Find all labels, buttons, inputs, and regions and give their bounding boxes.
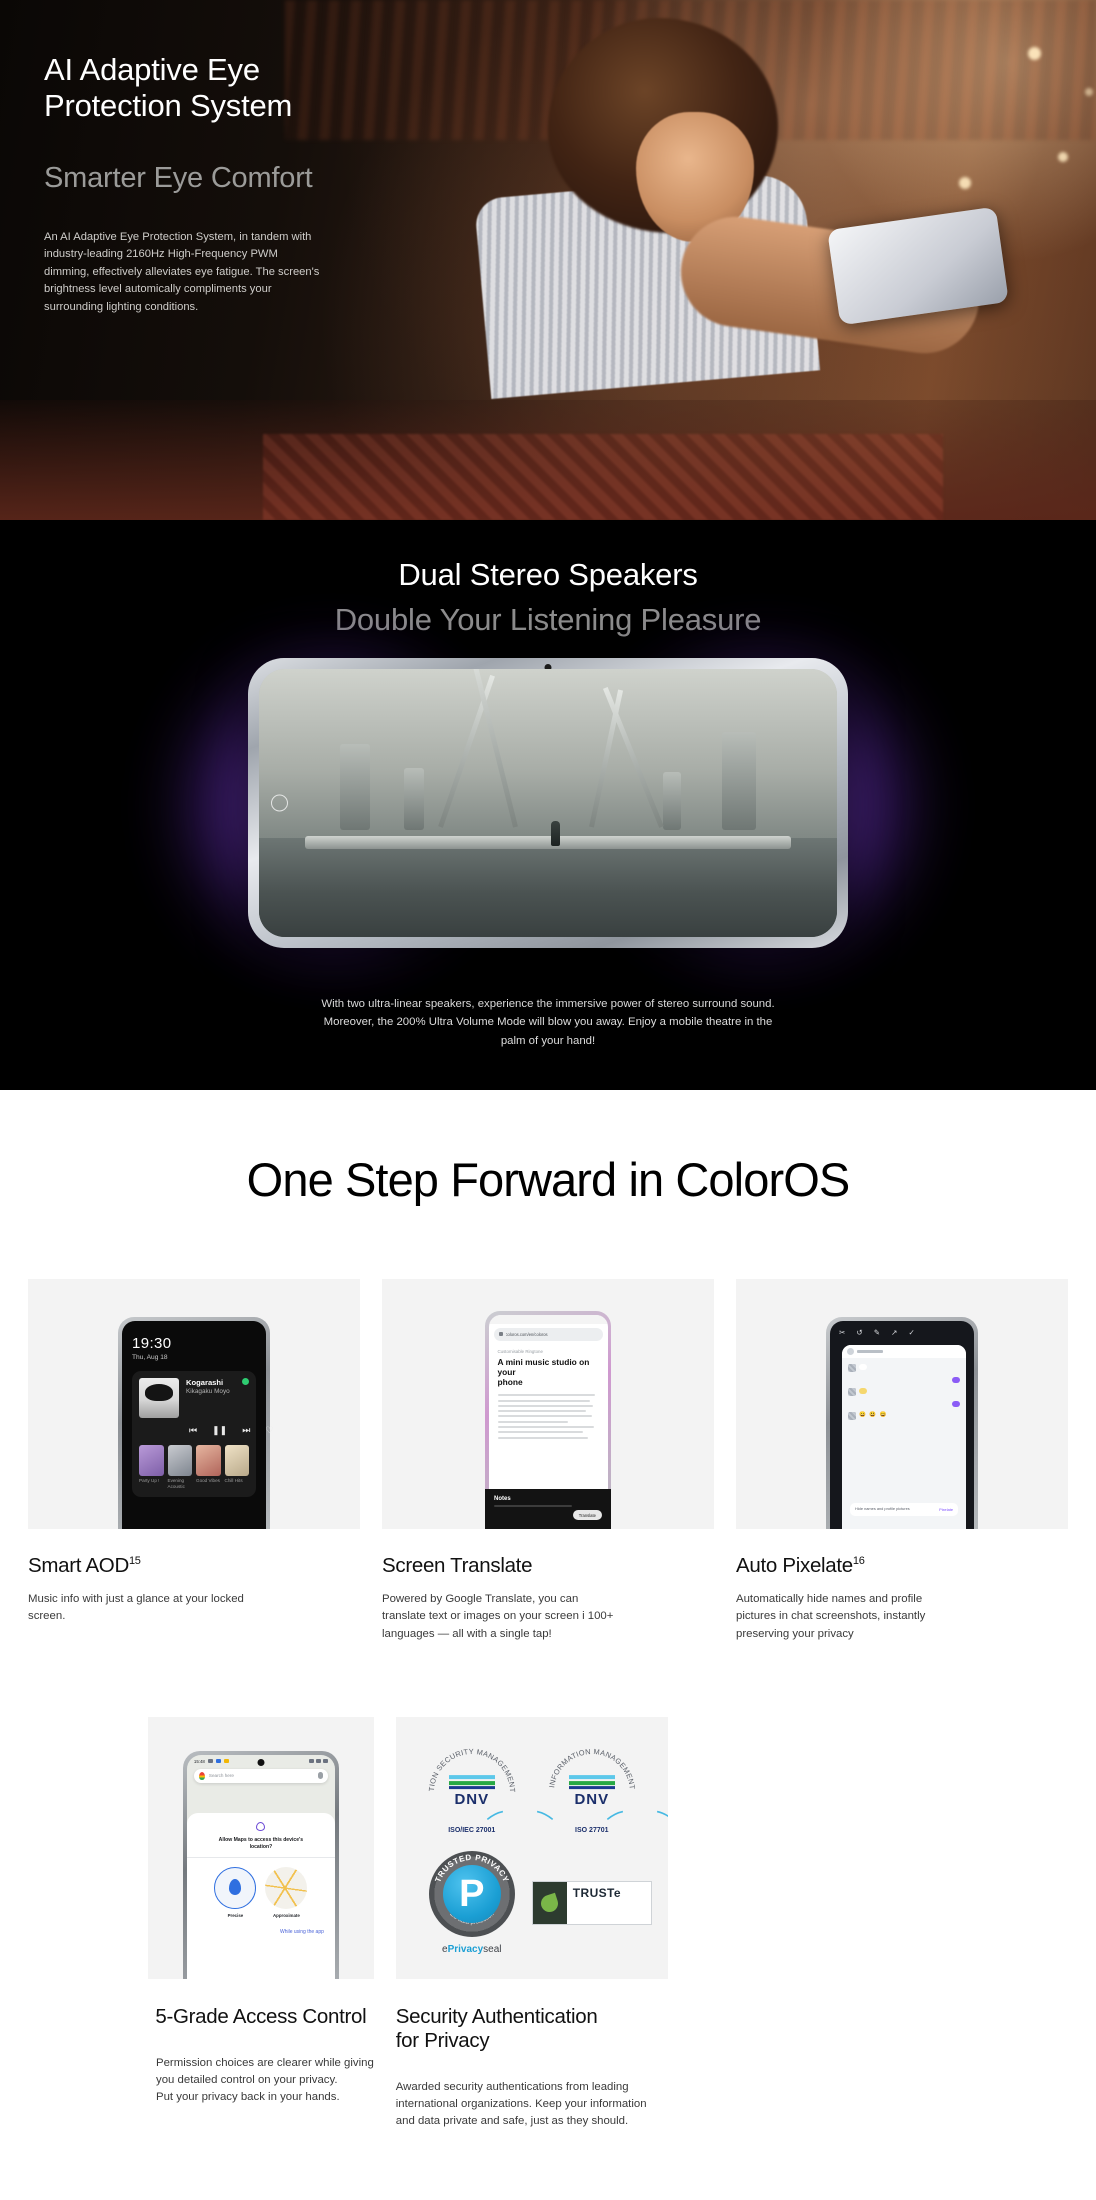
dnv-swoosh-icon: [592, 1810, 668, 1824]
battery-icon: [323, 1759, 328, 1763]
chat-header: [842, 1345, 966, 1358]
while-using-app-button[interactable]: While using the app: [196, 1929, 326, 1935]
feature-title: Screen Translate: [382, 1554, 714, 1578]
game-tower: [404, 768, 424, 830]
phone-mockup: coloros.com/en/coloros Customisable Ring…: [485, 1311, 611, 1529]
page-headline: A mini music studio on your phone: [498, 1357, 599, 1388]
chat-row: [848, 1377, 960, 1383]
hero-subtitle: Smarter Eye Comfort: [44, 162, 584, 195]
ai-eye-protection-section: AI Adaptive Eye Protection System Smarte…: [0, 0, 1096, 520]
chat-row: 😀 😃 😄: [848, 1412, 960, 1420]
dnv-wordmark: DNV: [565, 1791, 619, 1808]
aod-screen: 19:30 Thu, Aug 18 Kogarashi Kikagaku Moy…: [122, 1321, 266, 1529]
eprivacy-wordmark: ePrivacyseal: [429, 1944, 515, 1955]
aod-music-widget[interactable]: Kogarashi Kikagaku Moyo ⏮ ❚❚ ⏭ ♡: [132, 1371, 256, 1497]
feature-title: 5-Grade Access Control: [148, 2005, 374, 2029]
phone-mockup: 19:30 Thu, Aug 18 Kogarashi Kikagaku Moy…: [118, 1317, 270, 1529]
smart-aod-screenshot: 19:30 Thu, Aug 18 Kogarashi Kikagaku Moy…: [28, 1279, 360, 1529]
track-artist: Kikagaku Moyo: [186, 1388, 235, 1395]
feature-card-screen-translate: coloros.com/en/coloros Customisable Ring…: [382, 1279, 714, 1643]
translate-overlay-panel: Notes Translate: [489, 1489, 608, 1529]
truste-seal-icon: TRUSTe International Privacy Verified Po…: [532, 1881, 652, 1925]
share-icon[interactable]: ↗: [891, 1328, 897, 1337]
status-icon: [216, 1759, 221, 1763]
chat-row: [848, 1388, 960, 1396]
toast-text: Hide names and profile pictures: [855, 1507, 910, 1512]
screen-translate-screenshot: coloros.com/en/coloros Customisable Ring…: [382, 1279, 714, 1529]
chat-messages: 😀 😃 😄: [842, 1358, 966, 1420]
avatar-pixelated-icon: [848, 1388, 856, 1396]
dnv-bars-icon: [569, 1776, 615, 1790]
emoji-row: 😀 😃 😄: [859, 1412, 888, 1418]
landscape-phone-mockup: [248, 658, 848, 948]
aod-now-playing-row: Kogarashi Kikagaku Moyo: [139, 1378, 249, 1418]
feature-description: Music info with just a glance at your lo…: [28, 1591, 360, 1626]
aod-clock: 19:30: [132, 1335, 256, 1352]
chat-preview: 😀 😃 😄 Hide names and profile pictures Pi…: [842, 1345, 966, 1529]
leaf-icon: [539, 1893, 560, 1914]
speakers-subtitle: Double Your Listening Pleasure: [0, 602, 1096, 638]
feature-card-smart-aod: 19:30 Thu, Aug 18 Kogarashi Kikagaku Moy…: [28, 1279, 360, 1643]
badge-dnv-iso27001: INFORMATION SECURITY MANAGEMENT SYSTEM D…: [424, 1744, 520, 1840]
bokeh-light: [1058, 152, 1068, 162]
chat-row: [848, 1401, 960, 1407]
dual-stereo-speakers-section: Dual Stereo Speakers Double Your Listeni…: [0, 520, 1096, 1090]
phone-mockup: ✂ ↺ ✎ ↗ ✓: [826, 1317, 978, 1529]
game-tower: [340, 744, 370, 830]
playlist-thumbnail: [196, 1445, 221, 1476]
album-art: [139, 1378, 179, 1418]
url-text: coloros.com/en/coloros: [506, 1332, 548, 1337]
playlist-tile[interactable]: Party Up !: [139, 1445, 164, 1489]
playback-controls: ⏮ ❚❚ ⏭ ♡: [139, 1425, 249, 1436]
feature-title-text: Auto Pixelate: [736, 1554, 853, 1577]
eprivacy-p-mark: P: [443, 1865, 501, 1923]
badge-eprivacyseal: TRUSTED PRIVACY EU data protection P ePr…: [429, 1851, 515, 1955]
bokeh-light: [1028, 47, 1041, 60]
now-playing-indicator-icon: [242, 1378, 249, 1385]
playlist-label: Evening Acoustic: [168, 1478, 193, 1489]
auto-pixelate-screenshot: ✂ ↺ ✎ ↗ ✓: [736, 1279, 1068, 1529]
screenshot-toolbar: ✂ ↺ ✎ ↗ ✓: [830, 1321, 974, 1337]
truste-text-panel: TRUSTe International Privacy Verified Po…: [567, 1882, 651, 1924]
coloros-heading: One Step Forward in ColorOS: [0, 1152, 1096, 1207]
translate-button[interactable]: Translate: [573, 1510, 602, 1520]
feature-title: Auto Pixelate16: [736, 1554, 1068, 1578]
certification-badge-grid: INFORMATION SECURITY MANAGEMENT SYSTEM D…: [396, 1717, 668, 1979]
game-character: [551, 821, 560, 846]
overlay-line: [494, 1505, 572, 1507]
dnv-logo: DNV: [445, 1776, 499, 1809]
truste-leaf-panel: [533, 1882, 567, 1924]
maps-search-bar[interactable]: Search here: [194, 1769, 328, 1783]
microphone-icon[interactable]: [318, 1772, 323, 1779]
brand-part-b: Privacy: [448, 1944, 484, 1955]
chat-row: [848, 1364, 960, 1372]
signal-icon: [309, 1759, 314, 1763]
permission-dialog: Allow Maps to access this device's locat…: [187, 1813, 335, 1979]
toast-action-button[interactable]: Pixelate: [939, 1507, 953, 1512]
playlist-tile[interactable]: Chill Hits: [225, 1445, 250, 1489]
search-placeholder: Search here: [209, 1773, 234, 1778]
permission-question: Allow Maps to access this device's locat…: [196, 1837, 326, 1850]
playlist-tile[interactable]: Good Vibes: [196, 1445, 221, 1489]
feature-title: Security Authentication for Privacy: [396, 2005, 668, 2053]
page-body-lines: [498, 1394, 599, 1438]
bokeh-light: [959, 177, 971, 189]
feature-description: Permission choices are clearer while giv…: [148, 2055, 374, 2106]
status-bar: [489, 1315, 608, 1324]
playlist-label: Chill Hits: [225, 1478, 250, 1484]
feature-card-auto-pixelate: ✂ ↺ ✎ ↗ ✓: [736, 1279, 1068, 1643]
maps-pin-icon: [199, 1772, 205, 1780]
lock-icon: [499, 1332, 503, 1336]
dnv-standard-label: ISO/IEC 27001: [448, 1827, 495, 1834]
previous-track-icon[interactable]: ⏮: [189, 1425, 197, 1436]
undo-icon[interactable]: ↺: [856, 1328, 862, 1337]
game-water: [259, 838, 837, 937]
playlist-tile[interactable]: Evening Acoustic: [168, 1445, 193, 1489]
playlist-label: Good Vibes: [196, 1478, 221, 1484]
front-camera-icon: [257, 1759, 264, 1766]
feature-card-access-control: 15:48 Search here: [148, 1717, 374, 2130]
track-title: Kogarashi: [186, 1378, 235, 1387]
game-hud-icon: [271, 795, 288, 812]
hero-title: AI Adaptive Eye Protection System: [44, 52, 584, 124]
phone-mockup: 15:48 Search here: [183, 1751, 339, 1979]
crop-icon[interactable]: ✂: [839, 1328, 845, 1337]
game-tower: [663, 772, 681, 830]
feature-grid-two: 15:48 Search here: [0, 1717, 1096, 2130]
maps-permission-screen: 15:48 Search here: [187, 1755, 335, 1979]
pause-icon[interactable]: ❚❚: [212, 1425, 227, 1436]
status-icon: [224, 1759, 229, 1763]
divider: [187, 1857, 335, 1858]
option-approximate[interactable]: Approximate: [265, 1867, 307, 1918]
status-time: 15:48: [194, 1759, 205, 1764]
feature-description: Awarded security authentications from le…: [396, 2079, 668, 2130]
security-badges-panel: INFORMATION SECURITY MANAGEMENT SYSTEM D…: [396, 1717, 668, 1979]
feature-description: Powered by Google Translate, you can tra…: [382, 1591, 714, 1643]
overlay-heading: Notes: [494, 1496, 602, 1502]
badge-dnv-iso27701: PRIVACY INFORMATION MANAGEMENT SYSTEM DN…: [544, 1744, 640, 1840]
feature-description: Automatically hide names and profile pic…: [736, 1591, 1068, 1643]
feature-title: Smart AOD15: [28, 1554, 360, 1578]
hero-body-text: An AI Adaptive Eye Protection System, in…: [44, 229, 429, 316]
badge-truste: TRUSTe International Privacy Verified Po…: [532, 1881, 652, 1925]
feature-grid-three: 19:30 Thu, Aug 18 Kogarashi Kikagaku Moy…: [0, 1279, 1096, 1643]
footnote-marker: 16: [853, 1555, 865, 1567]
pen-icon[interactable]: ✎: [874, 1328, 880, 1337]
next-track-icon[interactable]: ⏭: [242, 1425, 250, 1436]
playlist-thumbnail: [225, 1445, 250, 1476]
avatar-pixelated-icon: [848, 1412, 856, 1420]
status-icon: [208, 1759, 213, 1763]
permission-options: Precise Approximate: [196, 1867, 326, 1918]
wifi-icon: [316, 1759, 321, 1763]
speakers-caption: With two ultra-linear speakers, experien…: [198, 995, 898, 1050]
browser-url-bar[interactable]: coloros.com/en/coloros: [494, 1328, 603, 1341]
rug-decor: [263, 434, 943, 520]
chat-screenshot-screen: ✂ ↺ ✎ ↗ ✓: [830, 1321, 974, 1529]
avatar-pixelated-icon: [848, 1364, 856, 1372]
dnv-wordmark: DNV: [445, 1791, 499, 1808]
track-meta: Kogarashi Kikagaku Moyo: [186, 1378, 235, 1418]
footnote-marker: 15: [129, 1555, 141, 1567]
approximate-location-map-icon: [265, 1867, 307, 1909]
option-label: Precise: [214, 1913, 256, 1918]
option-precise[interactable]: Precise: [214, 1867, 256, 1918]
dnv-bars-icon: [449, 1776, 495, 1790]
brand-part-c: seal: [483, 1944, 501, 1955]
eprivacy-seal-icon: TRUSTED PRIVACY EU data protection P: [429, 1851, 515, 1937]
speaker-glow-area: [0, 666, 1096, 966]
dnv-logo: DNV: [565, 1776, 619, 1809]
coloros-section: One Step Forward in ColorOS 19:30 Thu, A…: [0, 1090, 1096, 2200]
precise-location-map-icon: [214, 1867, 256, 1909]
feature-title-text: Screen Translate: [382, 1554, 532, 1577]
game-tower: [722, 732, 756, 830]
option-label: Approximate: [265, 1913, 307, 1918]
dnv-seal-icon: PRIVACY INFORMATION MANAGEMENT SYSTEM DN…: [544, 1744, 640, 1840]
playlist-thumbnail: [168, 1445, 193, 1476]
playlist-label: Party Up !: [139, 1478, 164, 1484]
feature-card-security-authentication: INFORMATION SECURITY MANAGEMENT SYSTEM D…: [396, 1717, 668, 2130]
page-content: Customisable Ringtone A mini music studi…: [489, 1341, 608, 1439]
page-kicker: Customisable Ringtone: [498, 1349, 599, 1354]
truste-wordmark: TRUSTe: [573, 1887, 603, 1925]
browser-screen: coloros.com/en/coloros Customisable Ring…: [489, 1315, 608, 1530]
speakers-title: Dual Stereo Speakers: [0, 520, 1096, 593]
feature-title-text: Smart AOD: [28, 1554, 129, 1577]
playlist-tiles: Party Up ! Evening Acoustic Good Vibes: [139, 1445, 249, 1489]
dnv-standard-label: ISO 27701: [575, 1827, 608, 1834]
contact-avatar: [847, 1348, 854, 1355]
phone-screen: [259, 669, 837, 937]
playlist-thumbnail: [139, 1445, 164, 1476]
location-icon: [256, 1822, 265, 1831]
dnv-seal-icon: INFORMATION SECURITY MANAGEMENT SYSTEM D…: [424, 1744, 520, 1840]
pixelate-toast[interactable]: Hide names and profile pictures Pixelate: [850, 1503, 958, 1516]
hero-copy-block: AI Adaptive Eye Protection System Smarte…: [44, 52, 584, 316]
access-control-screenshot: 15:48 Search here: [148, 1717, 374, 1979]
bokeh-light: [1085, 88, 1093, 96]
aod-date: Thu, Aug 18: [132, 1354, 256, 1361]
heart-icon[interactable]: ♡: [265, 1425, 273, 1436]
contact-name-redacted: [857, 1350, 883, 1353]
game-bridge: [305, 836, 791, 849]
check-icon[interactable]: ✓: [909, 1328, 915, 1337]
